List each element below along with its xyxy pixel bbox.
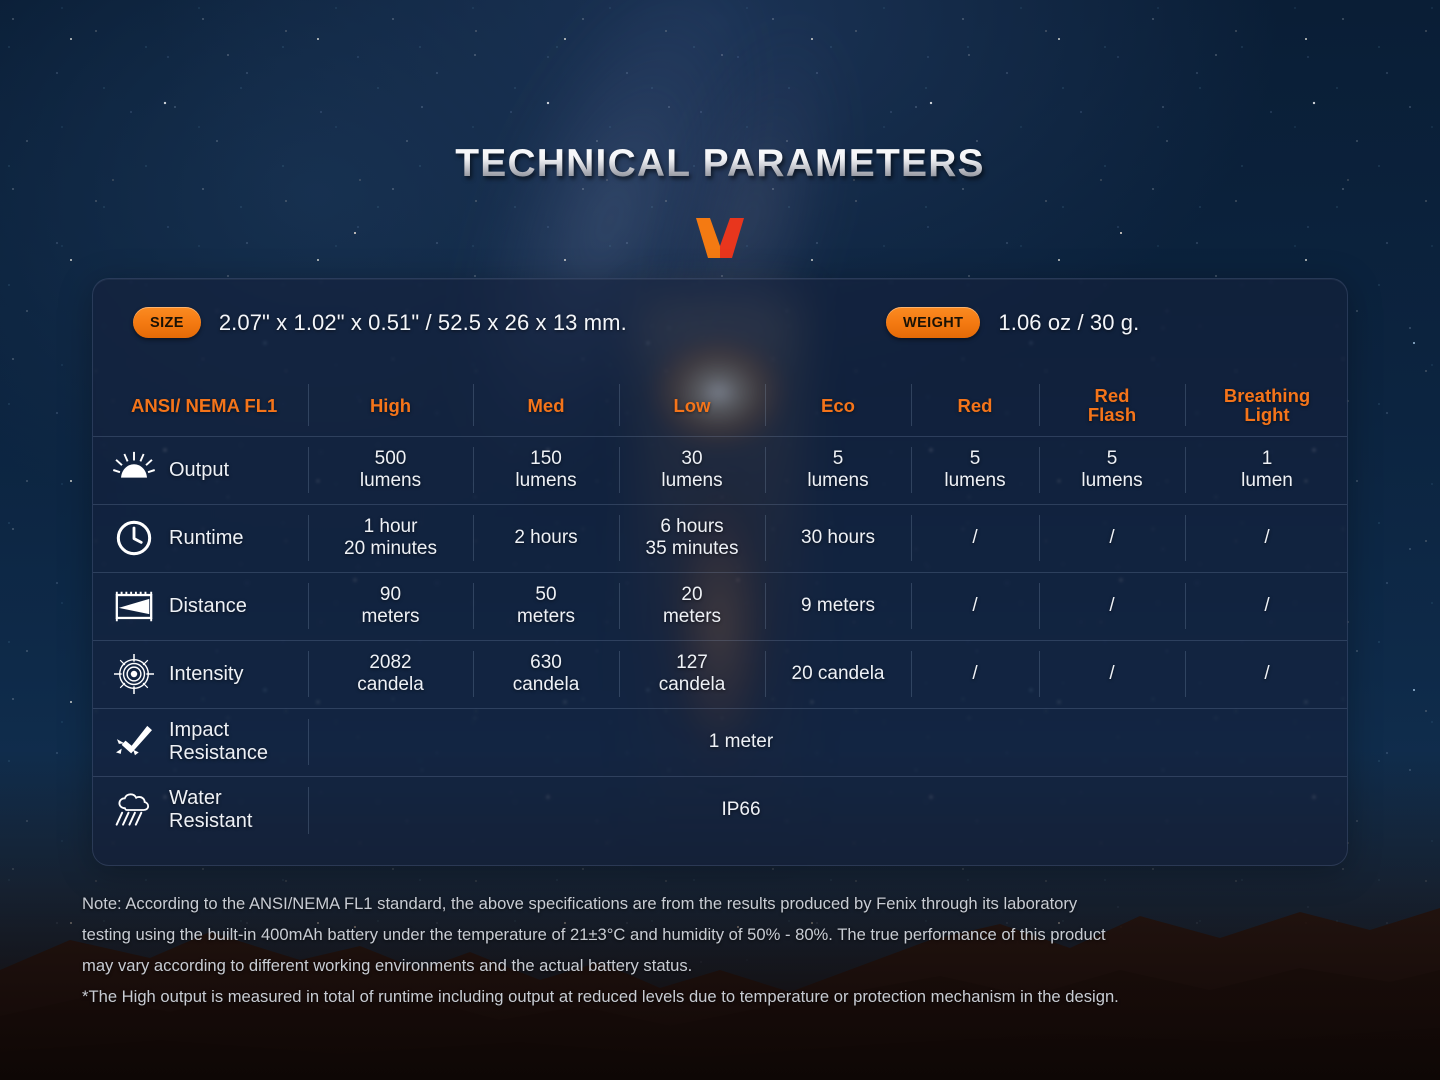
row-label-output-text: Output bbox=[169, 459, 229, 482]
table-row-output: Output 500lumens 150lumens 30lumens 5lum… bbox=[93, 436, 1348, 504]
header-low: Low bbox=[619, 375, 765, 436]
cell-intensity-low: 127candela bbox=[619, 640, 765, 708]
cell-runtime-med: 2 hours bbox=[473, 504, 619, 572]
size-weight-strip: SIZE 2.07" x 1.02" x 0.51" / 52.5 x 26 x… bbox=[93, 279, 1347, 375]
rain-cloud-icon bbox=[113, 789, 155, 831]
row-label-distance: Distance bbox=[93, 572, 308, 640]
sun-rays-icon bbox=[113, 449, 155, 491]
header-ansi-nema-fl1: ANSI/ NEMA FL1 bbox=[93, 375, 308, 436]
row-label-impact-resistance: Impact Resistance bbox=[93, 708, 308, 776]
cell-runtime-red-flash: / bbox=[1039, 504, 1185, 572]
header-breathing-line1: Breathing bbox=[1224, 385, 1310, 406]
weight-value: 1.06 oz / 30 g. bbox=[998, 310, 1139, 336]
row-label-impact-text: Impact Resistance bbox=[169, 719, 268, 765]
weight-spec: WEIGHT 1.06 oz / 30 g. bbox=[886, 307, 1139, 338]
cell-distance-eco: 9 meters bbox=[765, 572, 911, 640]
cell-output-red-flash: 5lumens bbox=[1039, 436, 1185, 504]
note-line-2: testing using the built-in 400mAh batter… bbox=[82, 919, 1372, 950]
cell-output-med: 150lumens bbox=[473, 436, 619, 504]
page-title: TECHNICAL PARAMETERS bbox=[0, 142, 1440, 186]
header-med: Med bbox=[473, 375, 619, 436]
cell-runtime-red: / bbox=[911, 504, 1039, 572]
table-header-row: ANSI/ NEMA FL1 High Med Low Eco Red Red … bbox=[93, 375, 1348, 436]
cell-distance-high: 90meters bbox=[308, 572, 473, 640]
water-line2: Resistant bbox=[169, 810, 252, 832]
cell-impact-resistance-value: 1 meter bbox=[308, 708, 1348, 776]
cell-intensity-eco: 20 candela bbox=[765, 640, 911, 708]
header-eco: Eco bbox=[765, 375, 911, 436]
cell-output-red: 5lumens bbox=[911, 436, 1039, 504]
cell-distance-med: 50meters bbox=[473, 572, 619, 640]
cell-output-eco: 5lumens bbox=[765, 436, 911, 504]
cell-distance-red: / bbox=[911, 572, 1039, 640]
cell-distance-low: 20meters bbox=[619, 572, 765, 640]
note-line-4: *The High output is measured in total of… bbox=[82, 981, 1372, 1012]
header-breathing-line2: Light bbox=[1244, 404, 1289, 425]
cell-intensity-high: 2082candela bbox=[308, 640, 473, 708]
size-value: 2.07" x 1.02" x 0.51" / 52.5 x 26 x 13 m… bbox=[219, 310, 627, 336]
row-label-intensity-text: Intensity bbox=[169, 663, 243, 686]
table-row-water-resistant: Water Resistant IP66 bbox=[93, 776, 1348, 844]
row-label-water-resistant: Water Resistant bbox=[93, 776, 308, 844]
size-badge: SIZE bbox=[133, 307, 201, 338]
table-row-distance: Distance 90meters 50meters 20meters 9 me… bbox=[93, 572, 1348, 640]
cell-intensity-med: 630candela bbox=[473, 640, 619, 708]
table-row-runtime: Runtime 1 hour20 minutes 2 hours 6 hours… bbox=[93, 504, 1348, 572]
header-red-flash-line1: Red bbox=[1095, 385, 1130, 406]
cell-output-breathing: 1lumen bbox=[1185, 436, 1348, 504]
impact-line2: Resistance bbox=[169, 742, 268, 764]
impact-line1: Impact bbox=[169, 719, 229, 741]
header-red-flash: Red Flash bbox=[1039, 375, 1185, 436]
cell-intensity-red-flash: / bbox=[1039, 640, 1185, 708]
technical-parameters-page: TECHNICAL PARAMETERS SIZE 2.07" x 1.02" … bbox=[0, 0, 1440, 1080]
row-label-output: Output bbox=[93, 436, 308, 504]
cell-output-high: 500lumens bbox=[308, 436, 473, 504]
cell-output-low: 30lumens bbox=[619, 436, 765, 504]
row-label-distance-text: Distance bbox=[169, 595, 247, 618]
header-red: Red bbox=[911, 375, 1039, 436]
cell-intensity-breathing: / bbox=[1185, 640, 1348, 708]
cell-distance-breathing: / bbox=[1185, 572, 1348, 640]
note-line-1: Note: According to the ANSI/NEMA FL1 sta… bbox=[82, 888, 1372, 919]
header-red-flash-line2: Flash bbox=[1088, 404, 1136, 425]
impact-arrow-icon bbox=[113, 721, 155, 763]
table-row-impact-resistance: Impact Resistance 1 meter bbox=[93, 708, 1348, 776]
cell-runtime-eco: 30 hours bbox=[765, 504, 911, 572]
header-breathing-light: Breathing Light bbox=[1185, 375, 1348, 436]
water-line1: Water bbox=[169, 787, 222, 809]
weight-badge: WEIGHT bbox=[886, 307, 980, 338]
row-label-runtime-text: Runtime bbox=[169, 527, 243, 550]
size-spec: SIZE 2.07" x 1.02" x 0.51" / 52.5 x 26 x… bbox=[133, 307, 627, 338]
cell-distance-red-flash: / bbox=[1039, 572, 1185, 640]
cell-intensity-red: / bbox=[911, 640, 1039, 708]
row-label-runtime: Runtime bbox=[93, 504, 308, 572]
ruler-distance-icon bbox=[113, 585, 155, 627]
cell-runtime-low: 6 hours35 minutes bbox=[619, 504, 765, 572]
row-label-intensity: Intensity bbox=[93, 640, 308, 708]
target-intensity-icon bbox=[113, 653, 155, 695]
chevron-down-icon bbox=[694, 216, 746, 258]
row-label-water-text: Water Resistant bbox=[169, 787, 252, 833]
cell-runtime-breathing: / bbox=[1185, 504, 1348, 572]
clock-icon bbox=[113, 517, 155, 559]
parameters-panel: SIZE 2.07" x 1.02" x 0.51" / 52.5 x 26 x… bbox=[92, 278, 1348, 866]
cell-water-resistant-value: IP66 bbox=[308, 776, 1348, 844]
note-block: Note: According to the ANSI/NEMA FL1 sta… bbox=[82, 888, 1372, 1012]
note-line-3: may vary according to different working … bbox=[82, 950, 1372, 981]
table-row-intensity: Intensity 2082candela 630candela 127cand… bbox=[93, 640, 1348, 708]
cell-runtime-high: 1 hour20 minutes bbox=[308, 504, 473, 572]
header-high: High bbox=[308, 375, 473, 436]
parameters-table: ANSI/ NEMA FL1 High Med Low Eco Red Red … bbox=[93, 375, 1348, 844]
